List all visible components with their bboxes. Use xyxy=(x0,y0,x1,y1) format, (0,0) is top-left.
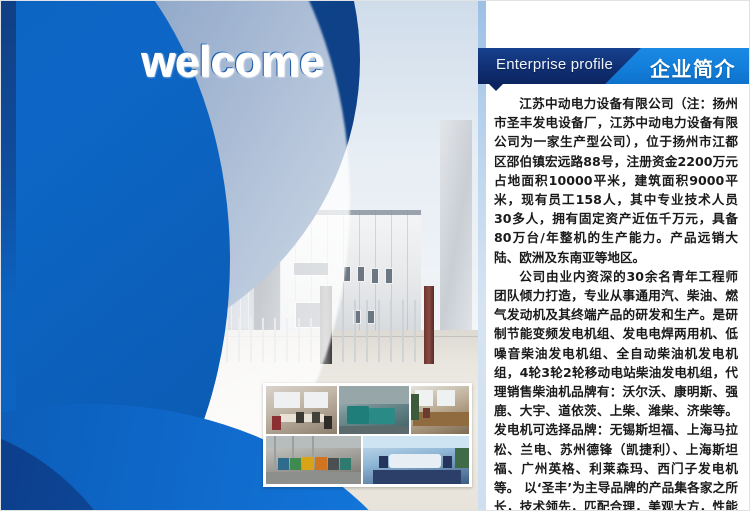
banner-image: 中动电力 江苏中动电力设备有限公司 Zhong xyxy=(0,0,478,511)
reception-desk-photo xyxy=(411,386,469,434)
photo-collage xyxy=(263,383,472,487)
enterprise-profile-panel: Enterprise profile 企业简介 江苏中动电力设备有限公司（注：扬… xyxy=(478,0,750,511)
section-header-tail xyxy=(489,84,503,91)
page-root: 中动电力 江苏中动电力设备有限公司 Zhong xyxy=(0,0,750,511)
distant-tower xyxy=(440,120,472,330)
collage-row-bottom xyxy=(266,436,469,484)
retractable-gate-right xyxy=(338,300,434,362)
generator-workshop-photo xyxy=(339,386,409,434)
profile-paragraph-1: 江苏中动电力设备有限公司（注：扬州市圣丰发电设备厂，江苏中动电力设备有限公司为一… xyxy=(494,94,738,267)
welcome-title: welcome xyxy=(140,36,322,86)
generator-warehouse-photo xyxy=(266,436,361,484)
gate-post-right xyxy=(424,286,434,364)
conference-room-photo xyxy=(363,436,469,484)
section-header-bar: Enterprise profile 企业简介 xyxy=(478,48,750,84)
collage-row-top xyxy=(266,386,469,434)
section-title-chinese: 企业简介 xyxy=(650,53,736,82)
profile-body-text: 江苏中动电力设备有限公司（注：扬州市圣丰发电设备厂，江苏中动电力设备有限公司为一… xyxy=(494,94,738,511)
section-title-english: Enterprise profile xyxy=(496,56,613,73)
profile-paragraph-2: 公司由业内资深的30余名青年工程师团队倾力打造，专业从事通用汽、柴油、燃气发动机… xyxy=(494,267,738,511)
office-meeting-photo xyxy=(266,386,337,434)
